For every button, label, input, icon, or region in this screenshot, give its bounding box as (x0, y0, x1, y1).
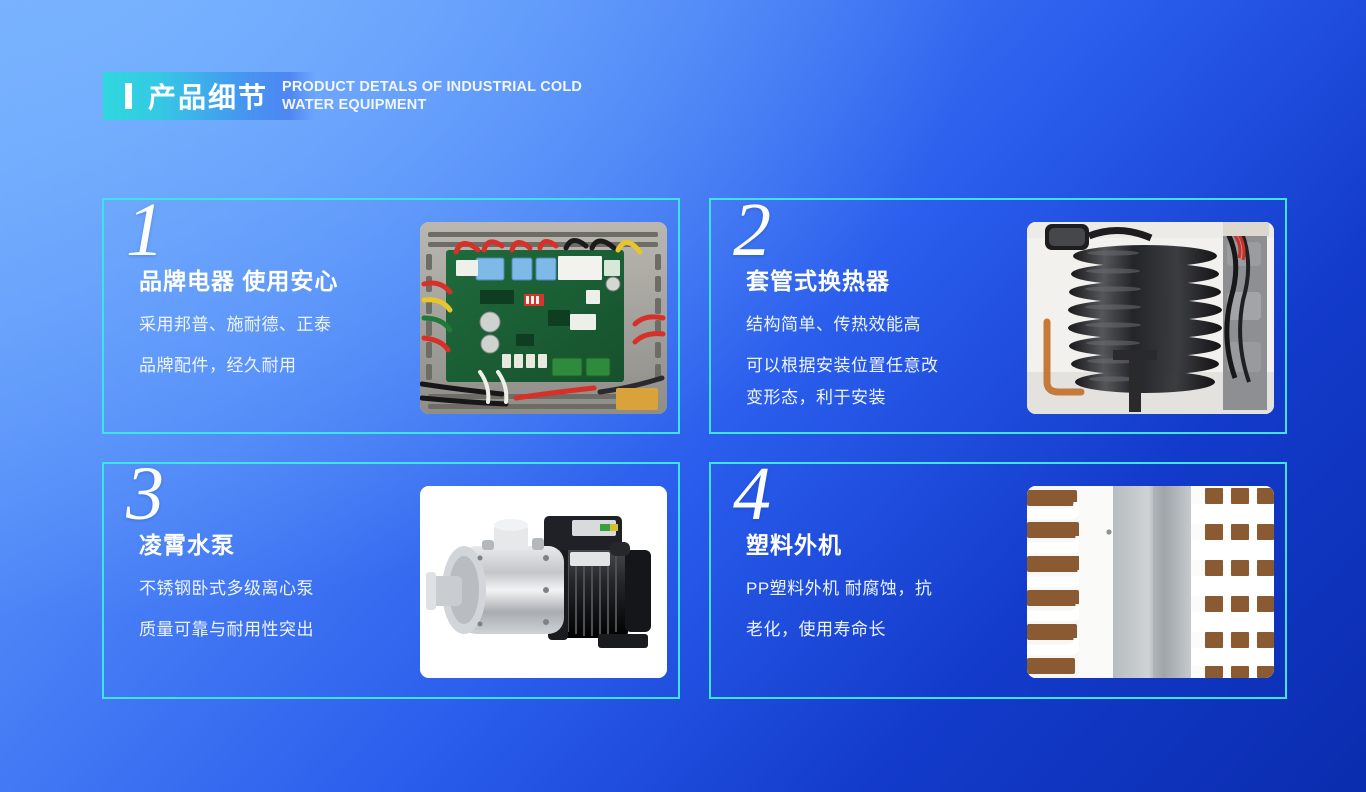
feature-card-4[interactable]: 4 塑料外机 PP塑料外机 耐腐蚀，抗 老化，使用寿命长 (709, 462, 1287, 699)
card-text-1: 品牌电器 使用安心 采用邦普、施耐德、正泰 品牌配件，经久耐用 (139, 262, 419, 382)
card-body-1: 采用邦普、施耐德、正泰 品牌配件，经久耐用 (139, 309, 419, 382)
section-header: 产品细节 PRODUCT DETALS OF INDUSTRIAL COLD W… (103, 70, 612, 122)
card-body-line: 质量可靠与耐用性突出 (139, 614, 419, 646)
card-body-4: PP塑料外机 耐腐蚀，抗 老化，使用寿命长 (746, 573, 1026, 646)
card-body-line: 品牌配件，经久耐用 (139, 350, 419, 382)
card-body-line: 不锈钢卧式多级离心泵 (139, 573, 419, 605)
page-subtitle: PRODUCT DETALS OF INDUSTRIAL COLD WATER … (282, 78, 612, 114)
card-body-line: 变形态，利于安装 (746, 388, 886, 407)
card-body-line: 采用邦普、施耐德、正泰 (139, 309, 419, 341)
card-text-4: 塑料外机 PP塑料外机 耐腐蚀，抗 老化，使用寿命长 (746, 526, 1026, 646)
card-body-3: 不锈钢卧式多级离心泵 质量可靠与耐用性突出 (139, 573, 419, 646)
feature-card-1[interactable]: 1 品牌电器 使用安心 采用邦普、施耐德、正泰 品牌配件，经久耐用 (102, 198, 680, 434)
card-title-2: 套管式换热器 (746, 262, 1026, 296)
water-pump-photo (420, 486, 667, 678)
card-body-line: 结构简单、传热效能高 (746, 309, 1026, 341)
card-number-2: 2 (733, 192, 771, 268)
header-tick-mark (125, 83, 132, 109)
control-board-photo (420, 222, 667, 414)
card-body-2: 结构简单、传热效能高 可以根据安装位置任意改 变形态，利于安装 (746, 309, 1026, 414)
feature-card-2[interactable]: 2 套管式换热器 结构简单、传热效能高 可以根据安装位置任意改 变形态，利于安装 (709, 198, 1287, 434)
card-title-4: 塑料外机 (746, 526, 1026, 560)
card-number-1: 1 (126, 192, 164, 268)
card-number-4: 4 (733, 456, 771, 532)
card-body-paragraph: 可以根据安装位置任意改 变形态，利于安装 (746, 350, 1026, 414)
poster-canvas: 产品细节 PRODUCT DETALS OF INDUSTRIAL COLD W… (0, 0, 1366, 792)
card-text-2: 套管式换热器 结构简单、传热效能高 可以根据安装位置任意改 变形态，利于安装 (746, 262, 1026, 414)
card-title-3: 凌霄水泵 (139, 526, 419, 560)
card-body-line: 可以根据安装位置任意改 (746, 356, 939, 375)
card-body-line: PP塑料外机 耐腐蚀，抗 (746, 573, 1026, 605)
card-title-1: 品牌电器 使用安心 (139, 262, 419, 296)
card-text-3: 凌霄水泵 不锈钢卧式多级离心泵 质量可靠与耐用性突出 (139, 526, 419, 646)
card-body-line: 老化，使用寿命长 (746, 614, 1026, 646)
card-number-3: 3 (126, 456, 164, 532)
heat-exchanger-coil-photo (1027, 222, 1274, 414)
feature-card-3[interactable]: 3 凌霄水泵 不锈钢卧式多级离心泵 质量可靠与耐用性突出 (102, 462, 680, 699)
plastic-housing-photo (1027, 486, 1274, 678)
page-title: 产品细节 (148, 76, 268, 116)
